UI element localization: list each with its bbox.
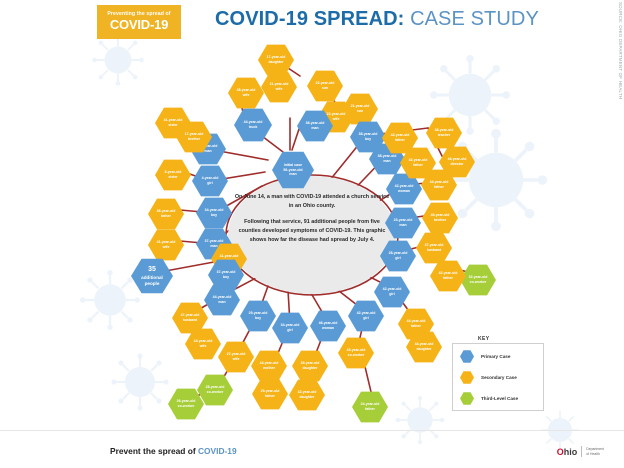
- case-node-line: boy: [223, 275, 229, 279]
- case-node-line: father: [434, 185, 444, 189]
- department-label: Department of Health: [586, 447, 604, 456]
- case-node-line: daughter: [300, 395, 315, 399]
- case-node-line: 32-year-old: [469, 275, 488, 279]
- case-node-line: 47-year-old: [181, 313, 200, 317]
- case-node-line: son: [357, 109, 363, 113]
- case-node-line: father: [365, 407, 375, 411]
- case-node-line: father: [411, 324, 421, 328]
- case-node-line: wife: [233, 357, 240, 361]
- center-description: On June 14, a man with COVID-19 attended…: [234, 193, 390, 245]
- case-node-line: 26-year-old: [177, 399, 196, 403]
- case-node-line: wife: [243, 93, 250, 97]
- case-node-line: father: [265, 394, 275, 398]
- case-node-line: 44-year-old: [213, 295, 232, 299]
- case-node-line: 39-year-old: [301, 361, 320, 365]
- case-node-line: co-worker: [470, 280, 487, 284]
- case-node-line: 44-year-old: [407, 319, 426, 323]
- case-node-line: 24-year-old: [361, 402, 380, 406]
- case-node-line: 56-year-old: [283, 168, 302, 172]
- case-node-line: 44-year-old: [194, 339, 213, 343]
- case-node-line: father: [395, 138, 405, 142]
- case-node-line: girl: [389, 292, 394, 296]
- case-node-line: 28-year-old: [389, 251, 408, 255]
- department-line-1: Department: [586, 447, 604, 451]
- case-node-line: son: [322, 86, 328, 90]
- case-node-line: man: [218, 300, 225, 304]
- case-node-line: 35: [141, 265, 163, 274]
- case-node-line: co-worker: [348, 353, 365, 357]
- transmission-link: [412, 128, 428, 130]
- case-node-line: wife: [276, 87, 283, 91]
- case-node-line: man: [204, 149, 211, 153]
- infographic-root: Preventing the spread of COVID-19 COVID-…: [0, 0, 624, 468]
- case-node-line: girl: [363, 316, 368, 320]
- case-node-line: husband: [183, 318, 198, 322]
- center-paragraph-1: On June 14, a man with COVID-19 attended…: [234, 193, 390, 212]
- case-node-line: 22-year-old: [327, 112, 346, 116]
- case-node-line: brother: [434, 218, 446, 222]
- case-node-line: daughter: [417, 347, 432, 351]
- footer-slogan: Prevent the spread of COVID-19: [110, 446, 237, 456]
- case-node-line: 4-year-old: [202, 176, 219, 180]
- case-node-line: 17-year-old: [267, 55, 286, 59]
- case-node-line: wife: [163, 245, 170, 249]
- case-node-line: Initial case: [284, 163, 302, 167]
- case-node-line: woman: [322, 326, 334, 330]
- case-node-line: 21-year-old: [270, 82, 289, 86]
- case-node-line: boy: [365, 137, 371, 141]
- case-node-line: 36-year-old: [306, 121, 325, 125]
- department-line-2: of Health: [586, 452, 604, 456]
- case-node-line: 38-year-old: [378, 154, 397, 158]
- case-node-line: co-worker: [178, 404, 195, 408]
- third-case-swatch-icon: [460, 392, 474, 405]
- case-node-line: boy: [211, 213, 217, 217]
- case-node-line: wife: [333, 117, 340, 121]
- case-node-line: 44-year-old: [260, 361, 279, 365]
- case-node-line: boy: [255, 316, 261, 320]
- case-node-line: mother: [263, 366, 275, 370]
- case-node-line: director: [450, 162, 463, 166]
- case-node-line: sister: [168, 123, 177, 127]
- transmission-link: [292, 126, 300, 150]
- case-node-line: 34-year-old: [205, 208, 224, 212]
- footer-slogan-accent: COVID-19: [198, 446, 237, 456]
- case-node-line: father: [161, 214, 171, 218]
- case-node-line: 42-year-old: [409, 158, 428, 162]
- case-node-line: man: [289, 172, 296, 176]
- ohio-logo-o: O: [557, 447, 564, 457]
- ohio-department-of-health-logo: Ohio Department of Health: [557, 446, 604, 457]
- case-node-line: 38-year-old: [237, 88, 256, 92]
- footer-slogan-plain: Prevent the spread of: [110, 446, 198, 456]
- case-node-line: father: [413, 163, 423, 167]
- key-label-third: Third-Level Case: [481, 396, 518, 401]
- case-node-line: 44-year-old: [244, 120, 263, 124]
- footer-divider: [0, 430, 624, 431]
- case-node-line: 38-year-old: [359, 132, 378, 136]
- case-node-line: people: [145, 281, 160, 286]
- case-node-line: 22-year-old: [316, 81, 335, 85]
- case-node-line: girl: [207, 181, 212, 185]
- ohio-wordmark: Ohio: [557, 447, 578, 457]
- case-node-line: 42-year-old: [357, 311, 376, 315]
- primary-case-swatch-icon: [460, 350, 474, 363]
- case-node-line: 23-year-old: [394, 218, 413, 222]
- case-node-line: 27-year-old: [227, 352, 246, 356]
- case-node-line: man: [311, 126, 318, 130]
- case-node-line: 41-year-old: [164, 118, 183, 122]
- case-node-line: father: [443, 276, 453, 280]
- case-node-line: 37-year-old: [425, 243, 444, 247]
- key-label-secondary: Secondary Case: [481, 375, 517, 380]
- case-node-line: man: [399, 223, 406, 227]
- case-node-line: 32-year-old: [298, 390, 317, 394]
- case-node-line: brother: [188, 137, 200, 141]
- case-node-line: 42-year-old: [383, 287, 402, 291]
- key-item-third: Third-Level Case: [460, 392, 518, 405]
- case-node-line: 44-year-old: [430, 180, 449, 184]
- case-node-line: 34-year-old: [281, 323, 300, 327]
- case-node-line: 41-year-old: [220, 254, 239, 258]
- case-node-line: 36-year-old: [157, 209, 176, 213]
- case-node-line: wife: [200, 344, 207, 348]
- case-node-line: 44-year-old: [415, 342, 434, 346]
- case-node-line: 46-year-old: [319, 321, 338, 325]
- case-node-line: man: [210, 244, 217, 248]
- case-node-line: 41-year-old: [157, 240, 176, 244]
- case-node-line: 38-year-old: [435, 128, 454, 132]
- case-node-line: 37-year-old: [217, 270, 236, 274]
- case-node-line: co-worker: [207, 390, 224, 394]
- case-node-line: daughter: [269, 60, 284, 64]
- case-node-line: 37-year-old: [205, 239, 224, 243]
- key-item-primary: Primary Case: [460, 350, 510, 363]
- case-node-line: man: [383, 159, 390, 163]
- case-node-line: 29-year-old: [261, 389, 280, 393]
- case-node-line: girl: [395, 256, 400, 260]
- case-node-line: sister: [168, 175, 177, 179]
- case-node-line: 8-year-old: [165, 170, 182, 174]
- case-node-line: additional: [141, 275, 163, 280]
- case-node-line: 42-year-old: [439, 271, 458, 275]
- case-node-line: truck: [249, 125, 258, 129]
- case-node-line: 29-year-old: [249, 311, 268, 315]
- case-node-line: 42-year-old: [391, 133, 410, 137]
- case-node-line: 17-year-old: [185, 132, 204, 136]
- case-node-line: teacher: [438, 133, 450, 137]
- secondary-case-swatch-icon: [460, 371, 474, 384]
- ohio-logo-rest: hio: [564, 447, 578, 457]
- case-node-line: woman: [398, 189, 410, 193]
- case-node-line: 46-year-old: [448, 157, 467, 161]
- key-label-primary: Primary Case: [481, 354, 510, 359]
- case-node-line: 43-year-old: [347, 348, 366, 352]
- case-node-line: daughter: [303, 366, 318, 370]
- center-paragraph-2: Following that service, 91 additional pe…: [234, 218, 390, 246]
- case-node-line: 21-year-old: [351, 104, 370, 108]
- key-item-secondary: Secondary Case: [460, 371, 517, 384]
- case-node-line: 28-year-old: [206, 385, 225, 389]
- key-title: KEY: [478, 336, 489, 342]
- logo-divider: [581, 446, 582, 457]
- case-node-line: 42-year-old: [395, 184, 414, 188]
- case-node-line: 40-year-old: [431, 213, 450, 217]
- case-node-line: girl: [287, 328, 292, 332]
- case-node-line: husband: [427, 248, 442, 252]
